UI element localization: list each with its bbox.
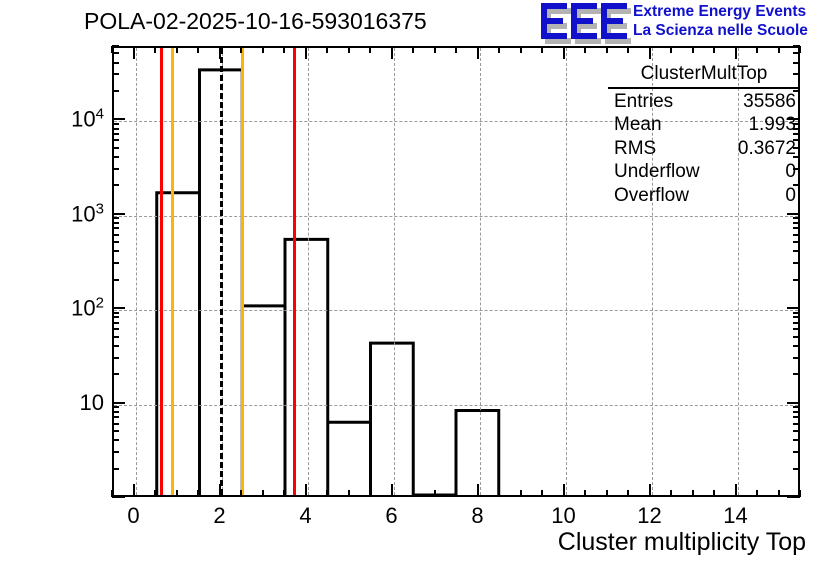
x-axis-tick [649, 484, 651, 497]
y-axis-tick [787, 496, 800, 498]
x-axis-tick [670, 46, 672, 53]
x-axis-tick [584, 490, 586, 497]
y-axis-tick [112, 90, 119, 92]
x-axis-tick [326, 46, 328, 53]
y-axis-tick [793, 123, 800, 125]
x-axis-label: 6 [385, 503, 397, 529]
x-axis-tick [412, 490, 414, 497]
x-axis-tick [283, 46, 285, 53]
y-axis-tick [112, 439, 119, 441]
y-axis-tick [787, 213, 800, 215]
y-axis-tick [787, 307, 800, 309]
eee-logo-line2: La Scienza nelle Scuole [633, 21, 836, 40]
y-axis-tick [793, 312, 800, 314]
y-axis-label: 10 [80, 390, 104, 416]
eee-logo: Extreme Energy Events La Scienza nelle S… [541, 2, 834, 44]
y-axis-tick [112, 312, 119, 314]
eee-logo-line1: Extreme Energy Events [633, 2, 836, 21]
y-axis-tick [112, 123, 119, 125]
grid-line-vertical [394, 48, 395, 495]
y-axis-tick [793, 184, 800, 186]
y-axis-tick [793, 73, 800, 75]
x-axis-tick [692, 46, 694, 53]
y-axis-label: 104 [71, 106, 104, 133]
x-axis-tick [240, 490, 242, 497]
y-axis-tick [793, 316, 800, 318]
x-axis-tick [348, 46, 350, 53]
x-axis-tick [240, 46, 242, 53]
stats-box: ClusterMultTop Entries35586Mean1.993RMS0… [608, 62, 800, 207]
x-axis-label: 0 [127, 503, 139, 529]
stats-row-value: 0.3672 [738, 137, 796, 161]
y-axis-tick [112, 322, 119, 324]
y-axis-tick [112, 45, 119, 47]
y-axis-tick [112, 118, 125, 120]
x-axis-tick [391, 484, 393, 497]
y-axis-label-exponent: 2 [96, 295, 104, 312]
y-axis-tick [793, 222, 800, 224]
grid-line-horizontal [114, 310, 798, 311]
y-axis-tick [112, 262, 119, 264]
marker-line [171, 48, 174, 495]
x-axis-tick [455, 490, 457, 497]
x-axis-tick [541, 490, 543, 497]
y-axis-tick [793, 336, 800, 338]
y-axis-tick [793, 373, 800, 375]
y-axis-tick [793, 451, 800, 453]
y-axis-tick [793, 45, 800, 47]
y-axis-tick [112, 416, 119, 418]
y-axis-tick [793, 139, 800, 141]
y-axis-tick [112, 213, 125, 215]
y-axis-label-exponent: 3 [96, 200, 104, 217]
stats-row: Underflow0 [608, 160, 800, 184]
x-axis-tick [197, 490, 199, 497]
grid-line-vertical [308, 48, 309, 495]
histogram-outline [157, 70, 499, 495]
grid-line-vertical [566, 48, 567, 495]
eee-letter-icon [571, 3, 597, 39]
x-axis-tick [434, 490, 436, 497]
stats-row: Mean1.993 [608, 113, 800, 137]
root-canvas: POLA-02-2025-10-16-593016375 Extreme Ene… [0, 0, 836, 572]
x-axis-tick [133, 46, 135, 59]
y-axis-tick [793, 52, 800, 54]
y-axis-tick [793, 328, 800, 330]
y-axis-tick [112, 184, 119, 186]
x-axis-label: 12 [637, 503, 661, 529]
y-axis-label-exponent: 4 [96, 106, 104, 123]
y-axis-tick [112, 73, 119, 75]
stats-row: Entries35586 [608, 90, 800, 114]
y-axis-tick [793, 234, 800, 236]
marker-line [160, 48, 163, 495]
y-axis-tick [793, 357, 800, 359]
y-axis-tick [793, 262, 800, 264]
y-axis-tick [112, 307, 125, 309]
x-axis-tick [369, 46, 371, 53]
stats-row-value: 0 [785, 160, 796, 184]
x-axis-label: 4 [299, 503, 311, 529]
x-axis-tick [778, 490, 780, 497]
page-title: POLA-02-2025-10-16-593016375 [84, 8, 427, 35]
x-axis-tick [756, 46, 758, 53]
grid-line-horizontal [114, 405, 798, 406]
y-axis-tick [793, 345, 800, 347]
x-axis-tick [434, 46, 436, 53]
y-axis-tick [787, 118, 800, 120]
eee-logo-text: Extreme Energy Events La Scienza nelle S… [633, 2, 836, 40]
x-axis-tick [778, 46, 780, 53]
y-axis-tick [793, 411, 800, 413]
y-axis-label: 103 [71, 200, 104, 227]
x-axis-tick [541, 46, 543, 53]
x-axis-label: 10 [551, 503, 575, 529]
y-axis-tick [793, 439, 800, 441]
y-axis-tick [793, 147, 800, 149]
x-axis-tick [756, 490, 758, 497]
x-axis-tick [563, 484, 565, 497]
y-axis-tick [112, 336, 119, 338]
x-axis-tick [713, 46, 715, 53]
x-axis-tick [219, 46, 221, 59]
x-axis-tick [735, 46, 737, 59]
x-axis-tick [176, 490, 178, 497]
y-axis-tick [793, 90, 800, 92]
stats-row-value: 1.993 [748, 113, 796, 137]
y-axis-tick [112, 147, 119, 149]
y-axis-tick [112, 227, 119, 229]
x-axis-tick [326, 490, 328, 497]
y-axis-tick [793, 468, 800, 470]
stats-row-value: 0 [785, 184, 796, 208]
y-axis-tick [793, 128, 800, 130]
stats-row-value: 35586 [743, 90, 796, 114]
x-axis-tick [649, 46, 651, 59]
grid-line-vertical [480, 48, 481, 495]
x-axis-tick [627, 46, 629, 53]
y-axis-tick [793, 168, 800, 170]
stats-row-key: Entries [614, 90, 673, 114]
x-axis-tick [670, 490, 672, 497]
x-axis-tick [219, 484, 221, 497]
x-axis-tick [197, 46, 199, 53]
x-axis-label: 14 [723, 503, 747, 529]
y-axis-tick [112, 250, 119, 252]
y-axis-tick [793, 250, 800, 252]
y-axis-tick [112, 62, 119, 64]
y-axis-label: 102 [71, 295, 104, 322]
y-axis-label-base: 10 [71, 296, 95, 321]
x-axis-tick [477, 46, 479, 59]
y-axis-tick [112, 423, 119, 425]
x-axis-tick [305, 46, 307, 59]
y-axis-tick [112, 430, 119, 432]
y-axis-tick [793, 279, 800, 281]
x-axis-tick [498, 490, 500, 497]
x-axis-tick [606, 490, 608, 497]
y-axis-tick [112, 52, 119, 54]
x-axis-tick [735, 484, 737, 497]
y-axis-tick [112, 496, 125, 498]
y-axis-tick [793, 416, 800, 418]
eee-letter-icon [601, 3, 627, 39]
y-axis-label-base: 10 [71, 201, 95, 226]
y-axis-label-base: 10 [71, 107, 95, 132]
x-axis-tick [477, 484, 479, 497]
x-axis-tick [584, 46, 586, 53]
eee-logo-mark [541, 3, 627, 41]
y-axis-tick [112, 345, 119, 347]
y-axis-tick [112, 279, 119, 281]
stats-title: ClusterMultTop [608, 62, 800, 89]
y-axis-tick [112, 128, 119, 130]
x-axis-tick [348, 490, 350, 497]
x-axis-tick [283, 490, 285, 497]
y-axis-tick [112, 133, 119, 135]
x-axis-label: 8 [471, 503, 483, 529]
x-axis-tick [262, 46, 264, 53]
y-axis-tick [112, 451, 119, 453]
y-axis-tick [112, 168, 119, 170]
marker-line [293, 48, 296, 495]
y-axis-tick [787, 402, 800, 404]
x-axis-tick [606, 46, 608, 53]
x-axis-tick [133, 484, 135, 497]
x-axis-tick [520, 46, 522, 53]
y-axis-tick [112, 241, 119, 243]
x-axis-tick [520, 490, 522, 497]
y-axis-tick [793, 430, 800, 432]
stats-row-key: RMS [614, 137, 656, 161]
y-axis-tick [112, 156, 119, 158]
x-axis-tick [627, 490, 629, 497]
y-axis-tick [793, 156, 800, 158]
x-axis-tick [176, 46, 178, 53]
stats-rows: Entries35586Mean1.993RMS0.3672Underflow0… [608, 90, 800, 208]
y-axis-tick [112, 411, 119, 413]
y-axis-tick [793, 227, 800, 229]
x-axis-tick [154, 490, 156, 497]
x-axis-tick [369, 490, 371, 497]
x-axis-tick [262, 490, 264, 497]
y-axis-tick [112, 234, 119, 236]
x-axis-label: 2 [213, 503, 225, 529]
y-axis-tick [112, 222, 119, 224]
y-axis-tick [112, 328, 119, 330]
stats-row: Overflow0 [608, 184, 800, 208]
x-axis-tick [154, 46, 156, 53]
y-axis-tick [112, 217, 119, 219]
y-axis-tick [793, 406, 800, 408]
y-axis-tick [112, 406, 119, 408]
y-axis-tick [793, 423, 800, 425]
stats-row-key: Underflow [614, 160, 700, 184]
y-axis-tick [793, 217, 800, 219]
x-axis-tick [455, 46, 457, 53]
y-axis-label-base: 10 [80, 390, 104, 415]
marker-line [220, 48, 223, 495]
x-axis-tick [692, 490, 694, 497]
grid-line-horizontal [114, 216, 798, 217]
y-axis-tick [793, 241, 800, 243]
stats-row: RMS0.3672 [608, 137, 800, 161]
marker-line [241, 48, 244, 495]
x-axis-tick [391, 46, 393, 59]
y-axis-tick [112, 468, 119, 470]
y-axis-tick [112, 357, 119, 359]
y-axis-tick [112, 316, 119, 318]
y-axis-tick [112, 373, 119, 375]
stats-row-key: Mean [614, 113, 662, 137]
y-axis-tick [793, 62, 800, 64]
y-axis-tick [793, 322, 800, 324]
x-axis-tick [713, 490, 715, 497]
y-axis-tick [793, 133, 800, 135]
stats-row-key: Overflow [614, 184, 689, 208]
eee-letter-icon [541, 3, 567, 39]
x-axis-title: Cluster multiplicity Top [558, 528, 806, 557]
x-axis-tick [412, 46, 414, 53]
x-axis-tick [305, 484, 307, 497]
y-axis-tick [112, 402, 125, 404]
x-axis-tick [498, 46, 500, 53]
grid-line-vertical [136, 48, 137, 495]
x-axis-tick [563, 46, 565, 59]
y-axis-tick [112, 139, 119, 141]
